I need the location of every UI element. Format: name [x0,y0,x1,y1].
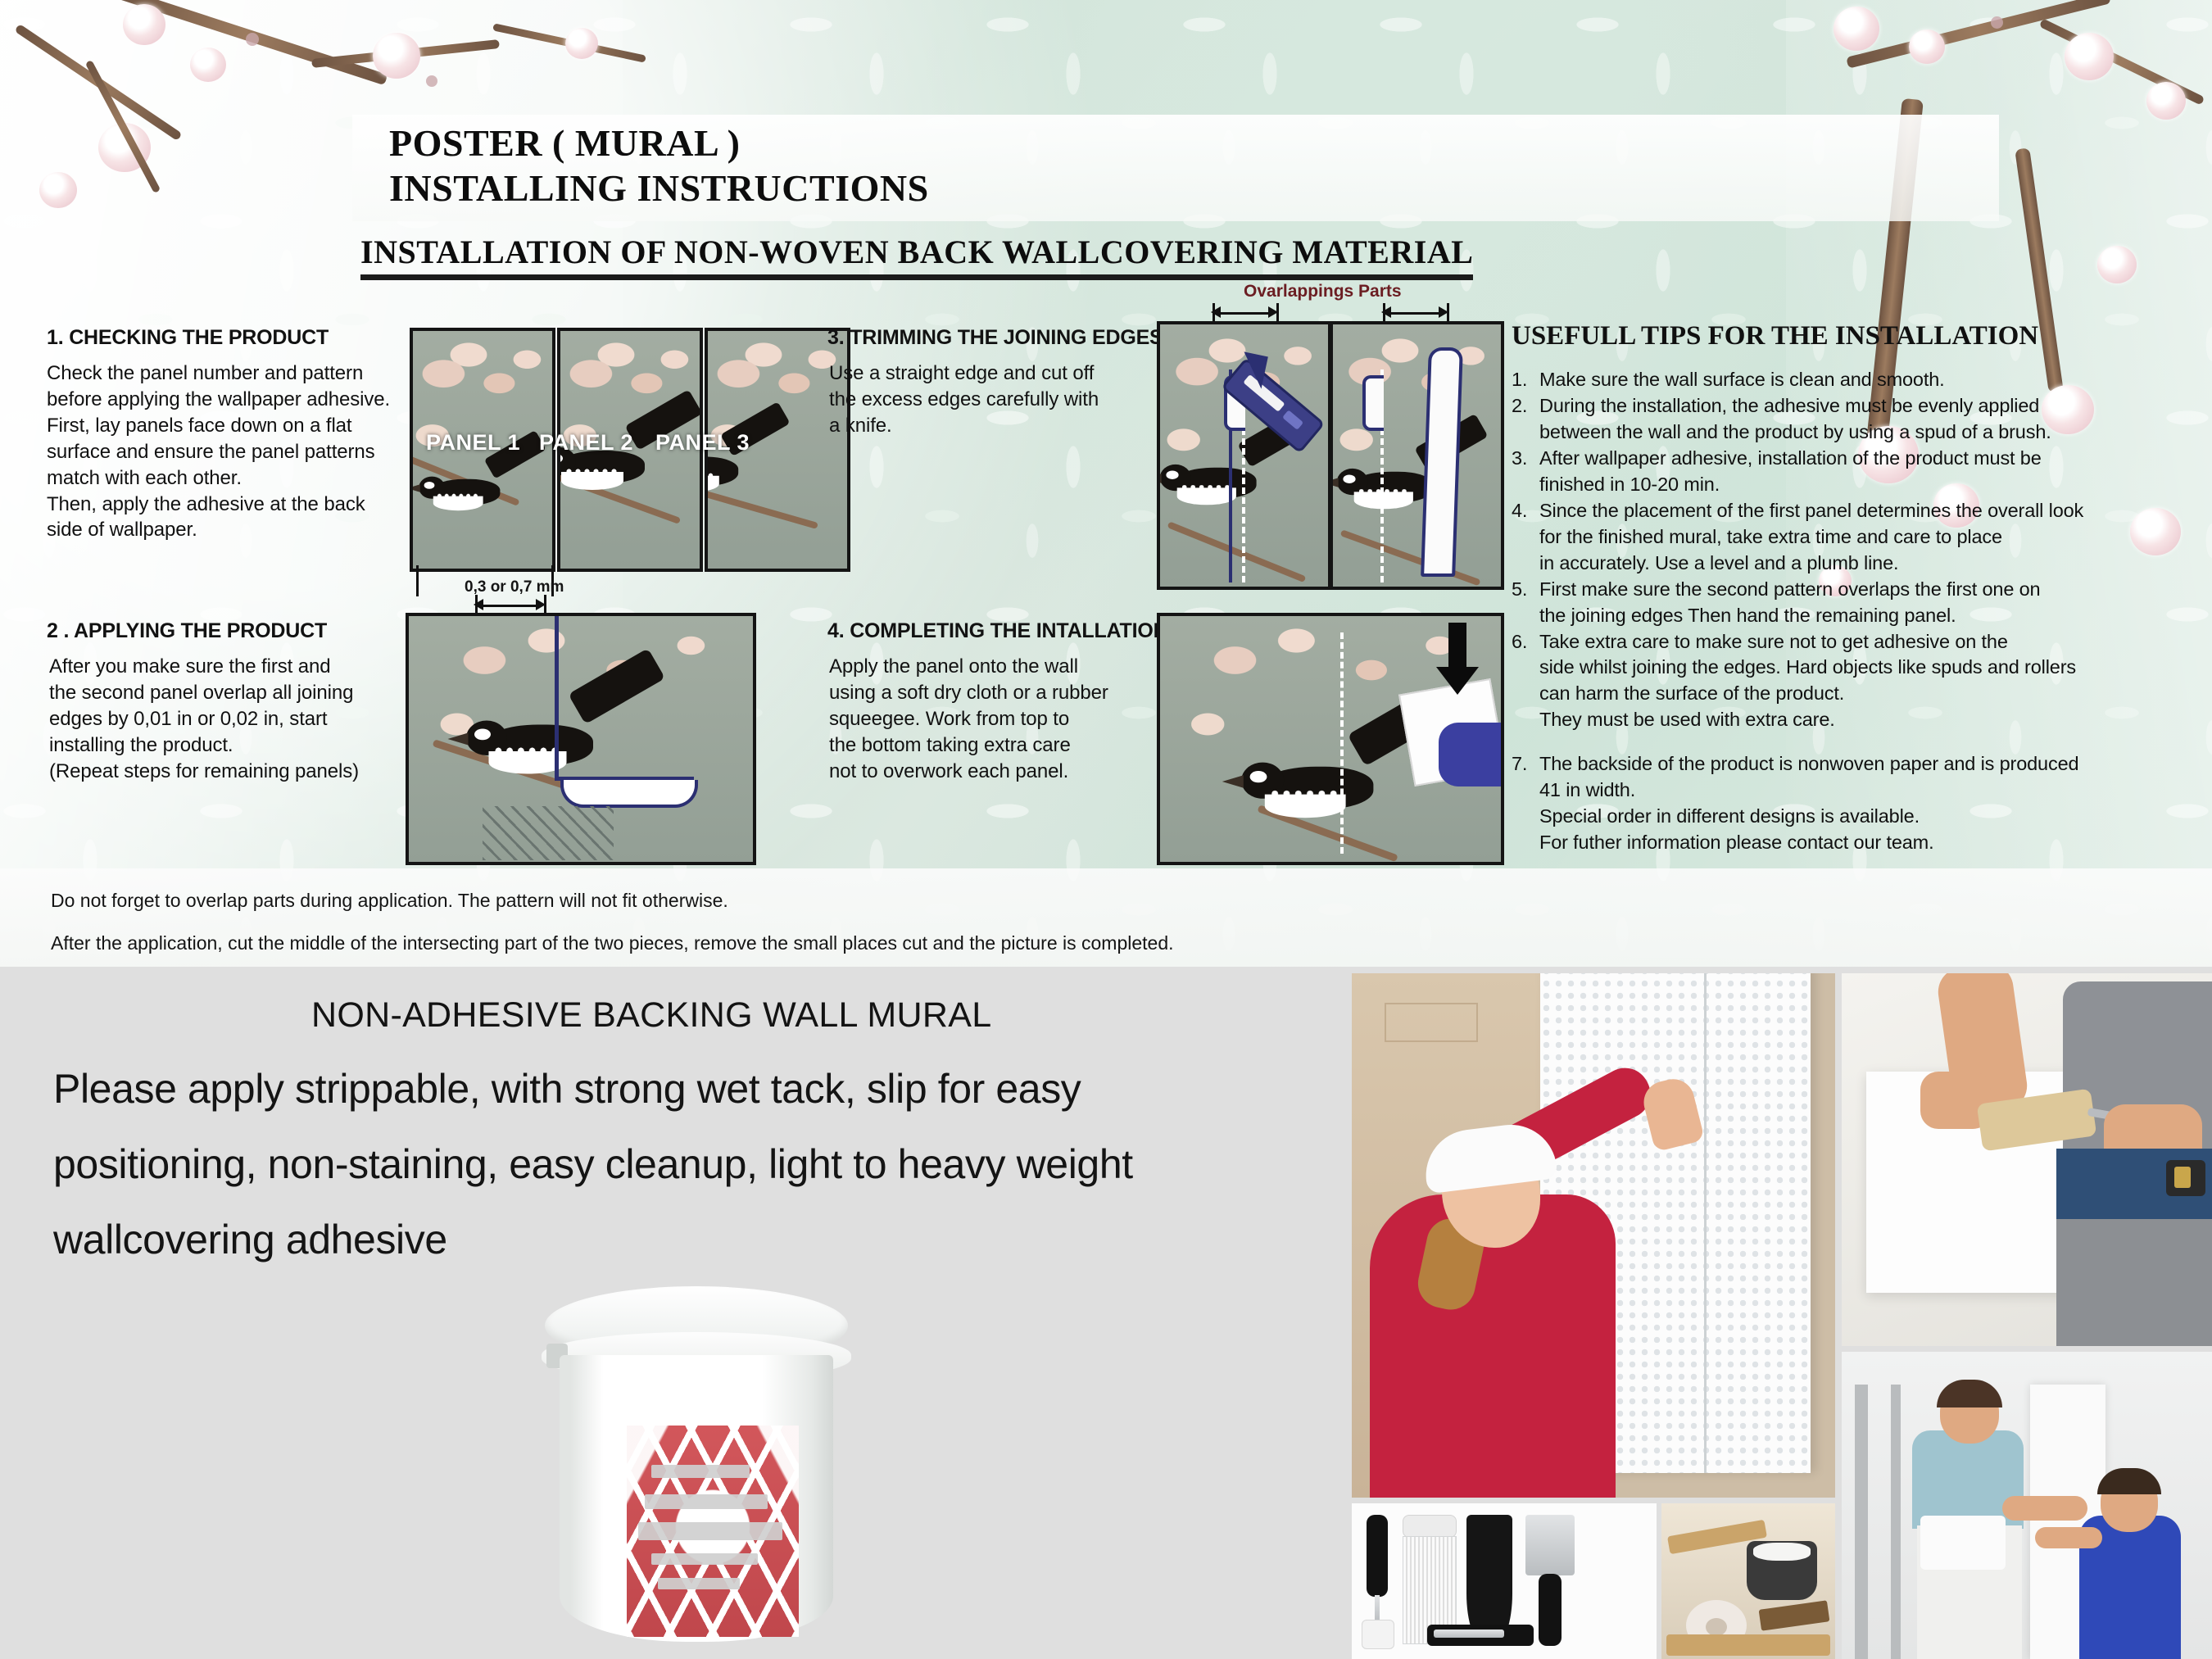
step-4-heading: 4. COMPLETING THE INTALLATION [827,619,1167,643]
panel-1-label: PANEL 1 [426,430,520,456]
overlap-edge-line [555,616,559,780]
seam-line-dashed [1340,632,1344,854]
illustration-smoothing-with-cloth [1157,613,1504,865]
overlap-dimension-label: 0,3 or 0,7 mm [465,578,564,596]
product-heading: NON-ADHESIVE BACKING WALL MURAL [311,995,991,1036]
step-1-body: Check the panel number and pattern befor… [47,360,390,543]
tips-heading: USEFULL TIPS FOR THE INSTALLATION [1512,321,2038,351]
photo-woman-smoothing-wallpaper [1352,973,1835,1498]
photo-two-men-hanging-wallpaper [1842,1352,2212,1659]
note-line-2: After the application, cut the middle of… [51,932,1174,954]
illustration-straight-edge [1330,321,1504,590]
step-2-body: After you make sure the first and the se… [49,654,359,785]
straight-edge-guide [1362,375,1384,431]
down-arrow-head [1436,667,1479,695]
instruction-poster-section: POSTER ( MURAL ) INSTALLING INSTRUCTIONS… [0,0,2212,967]
product-blurb-line-1: Please apply strippable, with strong wet… [53,1065,1081,1113]
tip-item: 7.The backside of the product is nonwove… [1512,751,2192,777]
notes-strip: Do not forget to overlap parts during ap… [0,868,2212,967]
dim-line [480,605,539,607]
tip-item: 3.After wallpaper adhesive, installation… [1512,446,2192,472]
illustration-cutting-with-knife [1157,321,1331,590]
step-3-body: Use a straight edge and cut off the exce… [829,360,1099,439]
adhesive-bucket-image [537,1286,856,1651]
poster-title-line2: INSTALLING INSTRUCTIONS [389,166,929,210]
illustration-overlap-detail [406,613,756,865]
product-blurb-line-2: positioning, non-staining, easy cleanup,… [53,1140,1133,1188]
poster-subtitle: INSTALLATION OF NON-WOVEN BACK WALLCOVER… [360,233,1473,280]
down-arrow-stem [1448,623,1466,670]
dim-tick-left [416,565,419,596]
panel-2-label: PANEL 2 [539,430,633,456]
tip-item: 1.Make sure the wall surface is clean an… [1512,367,2192,393]
tip-item: 5.First make sure the second pattern ove… [1512,577,2192,603]
photo-roller-applying-paste [1842,973,2212,1346]
poster-title-line1: POSTER ( MURAL ) [389,121,740,165]
note-line-1: Do not forget to overlap parts during ap… [51,890,728,912]
tip-item: 6.Take extra care to make sure not to ge… [1512,629,2192,655]
step-3-heading: 3. TRIMMING THE JOINING EDGES [827,326,1163,350]
photo-paste-tray-and-brushes [1661,1503,1835,1659]
hatching [483,806,614,860]
photo-wallpaper-tool-kit [1352,1503,1657,1659]
gloved-hand-icon [1439,723,1504,786]
product-blurb-line-3: wallcovering adhesive [53,1216,447,1263]
peeled-edge-shape [560,780,698,808]
step-2-heading: 2 . APPLYING THE PRODUCT [47,619,327,643]
step-1-heading: 1. CHECKING THE PRODUCT [47,326,329,350]
step-4-body: Apply the panel onto the wall using a so… [829,654,1108,785]
tip-item: 2.During the installation, the adhesive … [1512,393,2192,419]
tips-list: 1.Make sure the wall surface is clean an… [1512,367,2192,856]
bucket-label [627,1426,799,1637]
poster-page: POSTER ( MURAL ) INSTALLING INSTRUCTIONS… [0,0,2212,1659]
panel-3-label: PANEL 3 [655,430,750,456]
overlapping-parts-label: Ovarlappings Parts [1244,282,1402,301]
tip-item: 4.Since the placement of the first panel… [1512,498,2192,524]
